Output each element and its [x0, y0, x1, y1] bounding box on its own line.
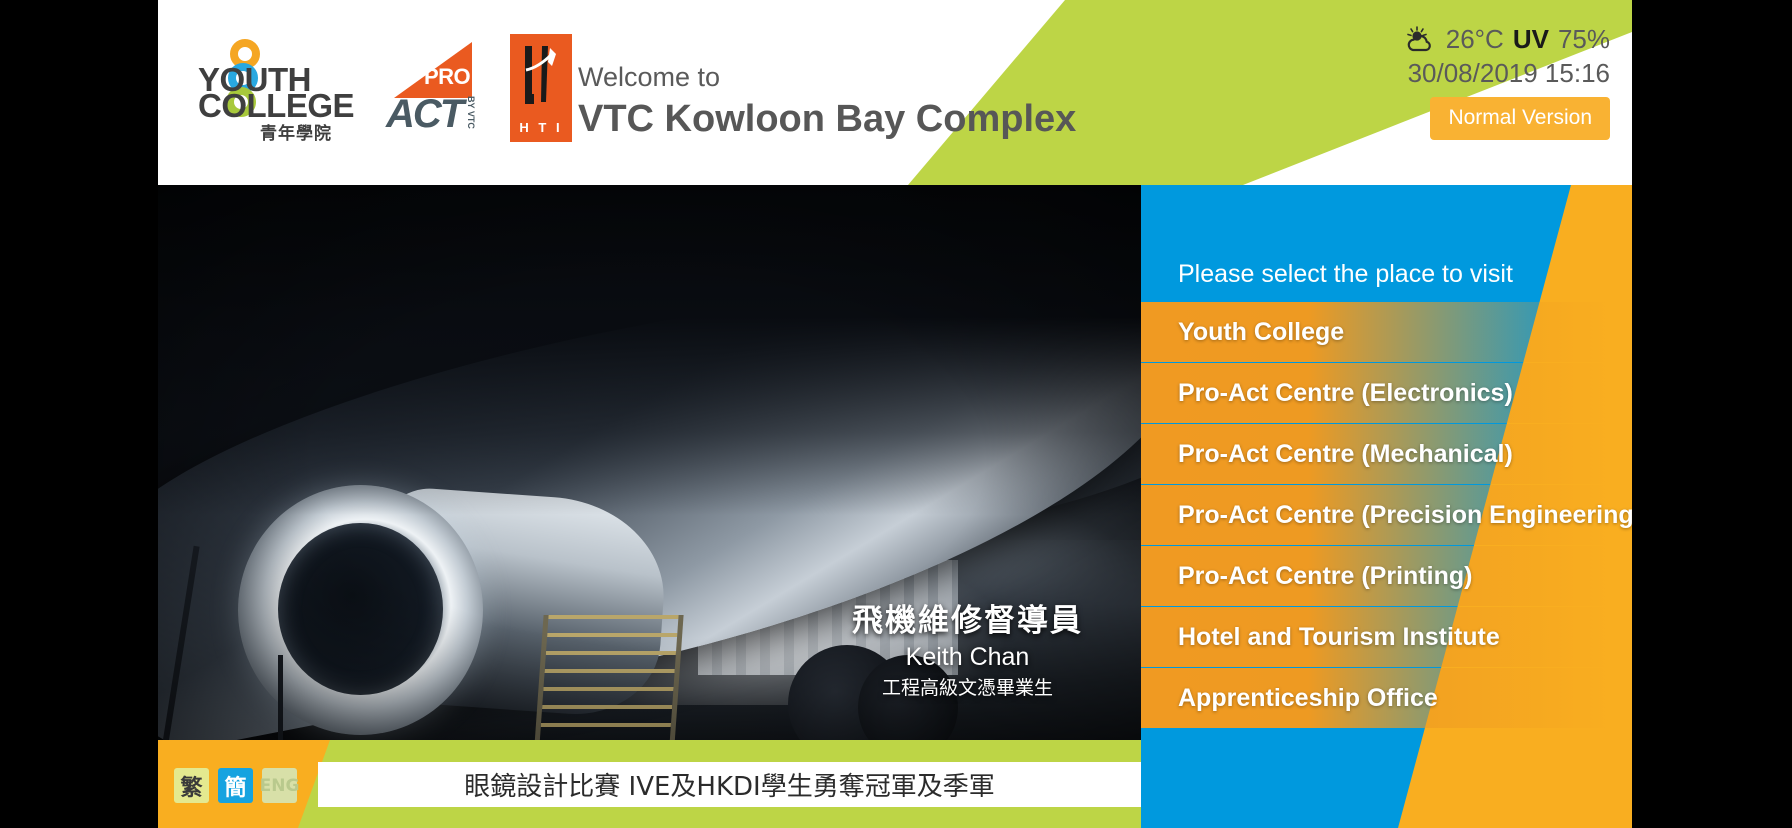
language-button-eng[interactable]: ENG — [262, 768, 297, 803]
caption-qualification: 工程高級文憑畢業生 — [852, 674, 1083, 702]
pro-act-act-text: ACT — [386, 92, 462, 137]
place-menu-item[interactable]: Youth College — [1141, 302, 1632, 362]
place-menu-item[interactable]: Pro-Act Centre (Mechanical) — [1141, 424, 1632, 484]
menu-item-label: Hotel and Tourism Institute — [1141, 623, 1500, 652]
header-bar: YOUTH COLLEGE 青年學院 PRO ACT BY VTC — [158, 0, 1632, 185]
news-ticker-text: 眼鏡設計比賽 IVE及HKDI學生勇奪冠軍及季軍 — [464, 766, 994, 803]
language-button-simp[interactable]: 簡 — [218, 768, 253, 803]
place-menu-item[interactable]: Apprenticeship Office — [1141, 668, 1632, 728]
content-stage: YOUTH COLLEGE 青年學院 PRO ACT BY VTC — [158, 0, 1632, 828]
promo-video-player[interactable]: 飛機維修督導員 Keith Chan 工程高級文憑畢業生 — [158, 185, 1141, 740]
uv-label: UV — [1513, 24, 1549, 54]
video-caption: 飛機維修督導員 Keith Chan 工程高級文憑畢業生 — [852, 601, 1083, 702]
caption-job-title: 飛機維修督導員 — [852, 601, 1083, 641]
place-menu-list: Youth CollegePro-Act Centre (Electronics… — [1141, 302, 1632, 729]
pro-act-byvtc-text: BY VTC — [466, 96, 475, 129]
place-menu-item[interactable]: Pro-Act Centre (Electronics) — [1141, 363, 1632, 423]
panel-title: Please select the place to visit — [1178, 260, 1513, 289]
logo-group: YOUTH COLLEGE 青年學院 PRO ACT BY VTC — [198, 34, 572, 142]
language-button-trad[interactable]: 繁 — [174, 768, 209, 803]
weather-row: 26°C UV 75% — [1403, 24, 1610, 54]
menu-item-label: Youth College — [1141, 318, 1344, 347]
news-ticker[interactable]: 眼鏡設計比賽 IVE及HKDI學生勇奪冠軍及季軍 — [318, 762, 1141, 807]
menu-item-label: Pro-Act Centre (Mechanical) — [1141, 440, 1513, 469]
normal-version-button[interactable]: Normal Version — [1430, 97, 1610, 140]
youth-college-logo: YOUTH COLLEGE 青年學院 — [198, 39, 358, 137]
menu-item-label: Apprenticeship Office — [1141, 684, 1438, 713]
caption-person-name: Keith Chan — [852, 641, 1083, 674]
place-menu-item[interactable]: Pro-Act Centre (Precision Engineering) — [1141, 485, 1632, 545]
datetime-text: 30/08/2019 15:16 — [1403, 54, 1610, 92]
menu-item-label: Pro-Act Centre (Electronics) — [1141, 379, 1513, 408]
bottom-bar: 繁簡ENG 眼鏡設計比賽 IVE及HKDI學生勇奪冠軍及季軍 — [158, 740, 1141, 828]
hti-logo: H T I — [510, 34, 572, 142]
hti-brush-mark — [522, 44, 560, 110]
welcome-block: Welcome to VTC Kowloon Bay Complex — [578, 60, 1076, 144]
kiosk-screen: YOUTH COLLEGE 青年學院 PRO ACT BY VTC — [0, 0, 1792, 828]
menu-item-label: Pro-Act Centre (Printing) — [1141, 562, 1472, 591]
hti-label: H T I — [510, 120, 572, 135]
pro-act-logo: PRO ACT BY VTC — [386, 40, 482, 136]
pro-act-pro-text: PRO — [424, 64, 470, 90]
welcome-large-text: VTC Kowloon Bay Complex — [578, 94, 1076, 144]
place-selection-panel: Please select the place to visit Youth C… — [1141, 185, 1632, 828]
menu-item-label: Pro-Act Centre (Precision Engineering) — [1141, 501, 1632, 530]
yc-chinese: 青年學院 — [260, 119, 332, 144]
place-menu-item[interactable]: Hotel and Tourism Institute — [1141, 607, 1632, 667]
temperature-value: 26°C — [1446, 24, 1504, 54]
language-selector: 繁簡ENG — [174, 768, 297, 803]
header-right-info: 26°C UV 75% 30/08/2019 15:16 Normal Vers… — [1403, 24, 1610, 140]
place-menu-item[interactable]: Pro-Act Centre (Printing) — [1141, 546, 1632, 606]
uv-value: 75% — [1558, 24, 1610, 54]
welcome-small-text: Welcome to — [578, 60, 1076, 94]
sun-cloud-icon — [1403, 26, 1437, 52]
